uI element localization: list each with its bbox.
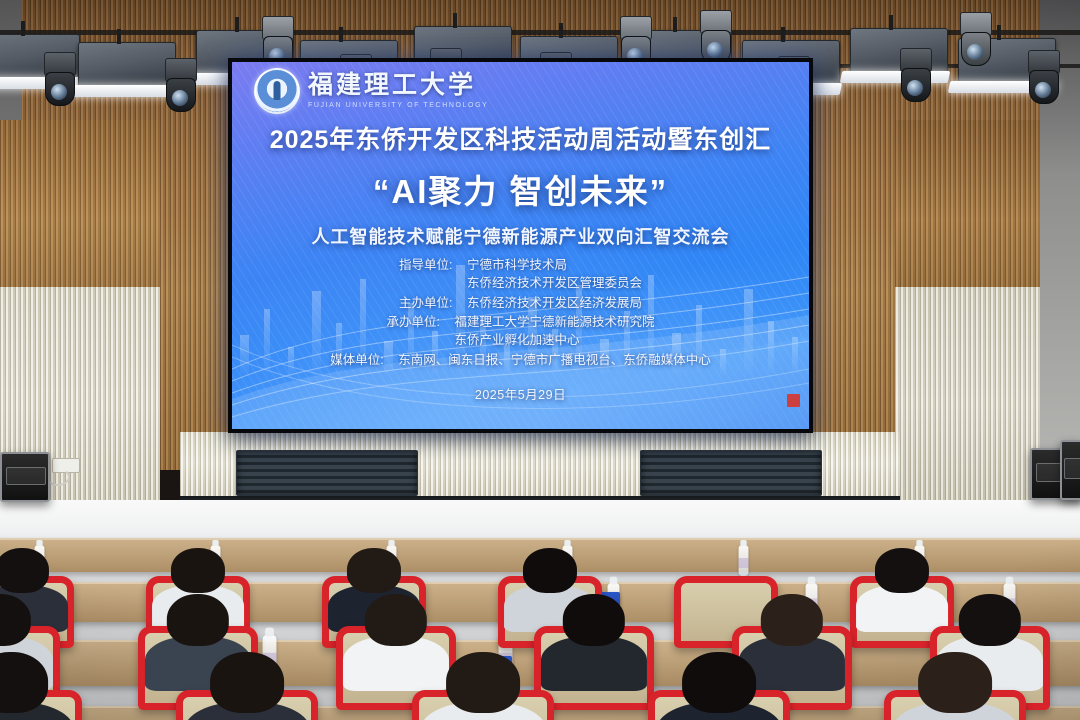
audience-head bbox=[682, 652, 756, 713]
organization-label: 主办单位: bbox=[399, 295, 467, 313]
audience-area: 发发发发 bbox=[0, 496, 1080, 720]
moving-head-lens bbox=[172, 90, 188, 106]
audience-head bbox=[0, 548, 49, 593]
organization-value: 东侨产业孵化加速中心 bbox=[454, 332, 654, 350]
audience-member bbox=[761, 594, 823, 683]
moving-head-lens bbox=[967, 44, 983, 60]
light-stalk bbox=[781, 27, 785, 42]
right-panel-wood-upper bbox=[895, 120, 1040, 287]
audience-head bbox=[347, 548, 401, 593]
hvac-vent-left bbox=[236, 450, 418, 496]
organization-values: 东侨经济技术开发区经济发展局 bbox=[467, 295, 642, 313]
moving-head-lens bbox=[1035, 82, 1051, 98]
light-stalk bbox=[559, 23, 563, 38]
organization-value: 宁德市科学技术局 bbox=[467, 257, 642, 275]
organization-list: 指导单位:宁德市科学技术局东侨经济技术开发区管理委员会主办单位:东侨经济技术开发… bbox=[232, 257, 809, 370]
organization-value: 东侨经济技术开发区经济发展局 bbox=[467, 295, 642, 313]
moving-head-lens bbox=[707, 42, 723, 58]
light-stalk bbox=[889, 15, 893, 30]
hvac-vent-right bbox=[640, 450, 822, 496]
audience-head bbox=[523, 548, 577, 593]
audience-head bbox=[0, 652, 48, 713]
organization-value: 东侨经济技术开发区管理委员会 bbox=[467, 275, 642, 293]
right-panel-cream-lower bbox=[895, 287, 1040, 500]
light-stalk bbox=[235, 17, 239, 32]
organization-row: 主办单位:东侨经济技术开发区经济发展局 bbox=[399, 295, 642, 313]
organization-values: 宁德市科学技术局东侨经济技术开发区管理委员会 bbox=[467, 257, 642, 293]
university-name-en: FUJIAN UNIVERSITY OF TECHNOLOGY bbox=[308, 102, 488, 109]
moving-head-lens bbox=[51, 84, 67, 100]
moving-head-light bbox=[44, 52, 74, 106]
led-screen: 福建理工大学 FUJIAN UNIVERSITY OF TECHNOLOGY 2… bbox=[228, 58, 813, 433]
screen-corner-logo-icon bbox=[787, 394, 800, 407]
screenshot-root: 福建理工大学 FUJIAN UNIVERSITY OF TECHNOLOGY 2… bbox=[0, 0, 1080, 720]
organization-row: 媒体单位:东南网、闽东日报、宁德市广播电视台、东侨融媒体中心 bbox=[330, 352, 711, 370]
moving-head-lens bbox=[907, 80, 923, 96]
audience-member bbox=[210, 652, 284, 720]
organization-values: 福建理工大学宁德新能源技术研究院东侨产业孵化加速中心 bbox=[454, 314, 654, 350]
light-stalk bbox=[339, 27, 343, 42]
event-subtitle: 人工智能技术赋能宁德新能源产业双向汇智交流会 bbox=[232, 223, 809, 249]
audience-head bbox=[210, 652, 284, 713]
panel-light-fixture bbox=[850, 28, 948, 76]
audience-head bbox=[875, 548, 929, 593]
left-panel-wood-upper bbox=[0, 120, 160, 287]
audience-head bbox=[171, 548, 225, 593]
event-slogan: “AI聚力 智创未来” bbox=[232, 165, 809, 213]
road-case-left bbox=[0, 452, 50, 502]
university-seal-icon bbox=[254, 68, 300, 114]
right-wall-panel bbox=[895, 120, 1040, 500]
moving-head-light bbox=[1028, 50, 1058, 104]
audience-head bbox=[167, 594, 229, 646]
university-name-cn: 福建理工大学 bbox=[308, 73, 488, 98]
organization-value: 福建理工大学宁德新能源技术研究院 bbox=[454, 314, 654, 332]
audience-member bbox=[365, 594, 427, 683]
light-stalk bbox=[453, 13, 457, 28]
audience-member bbox=[0, 652, 48, 720]
light-stalk bbox=[997, 25, 1001, 40]
audience-member bbox=[682, 652, 756, 720]
light-stalk bbox=[673, 17, 677, 32]
organization-label: 指导单位: bbox=[399, 257, 467, 275]
audience-head bbox=[446, 652, 520, 713]
university-name-block: 福建理工大学 FUJIAN UNIVERSITY OF TECHNOLOGY bbox=[308, 73, 488, 109]
moving-head-light bbox=[700, 10, 730, 64]
organization-label: 媒体单位: bbox=[330, 352, 398, 370]
road-case-right-edge bbox=[1060, 440, 1080, 500]
audience-member bbox=[563, 594, 625, 683]
organization-value: 东南网、闽东日报、宁德市广播电视台、东侨融媒体中心 bbox=[398, 352, 711, 370]
audience-member bbox=[875, 548, 929, 624]
university-logo-lockup: 福建理工大学 FUJIAN UNIVERSITY OF TECHNOLOGY bbox=[254, 68, 488, 114]
event-title-main: 2025年东侨开发区科技活动周活动暨东创汇 bbox=[232, 120, 809, 156]
organization-row: 承办单位:福建理工大学宁德新能源技术研究院东侨产业孵化加速中心 bbox=[386, 314, 654, 350]
light-stalk bbox=[21, 21, 25, 36]
moving-head-light bbox=[960, 12, 990, 66]
audience-head bbox=[365, 594, 427, 646]
led-screen-content: 福建理工大学 FUJIAN UNIVERSITY OF TECHNOLOGY 2… bbox=[232, 62, 809, 429]
audience-head bbox=[761, 594, 823, 646]
left-wall-panel bbox=[0, 120, 160, 500]
moving-head-light bbox=[900, 48, 930, 102]
audience-head bbox=[959, 594, 1021, 646]
audience-head bbox=[918, 652, 992, 713]
organization-row: 指导单位:宁德市科学技术局东侨经济技术开发区管理委员会 bbox=[399, 257, 642, 293]
organization-values: 东南网、闽东日报、宁德市广播电视台、东侨融媒体中心 bbox=[398, 352, 711, 370]
light-stalk bbox=[117, 29, 121, 44]
audience-member bbox=[918, 652, 992, 720]
panel-light-fixture bbox=[78, 42, 176, 90]
moving-head-light bbox=[165, 58, 195, 112]
organization-label: 承办单位: bbox=[386, 314, 454, 332]
audience-head bbox=[563, 594, 625, 646]
event-date: 2025年5月29日 bbox=[232, 384, 809, 403]
water-bottle bbox=[739, 545, 749, 576]
audience-member bbox=[446, 652, 520, 720]
screen-title-block: 2025年东侨开发区科技活动周活动暨东创汇 “AI聚力 智创未来” 人工智能技术… bbox=[232, 120, 809, 249]
